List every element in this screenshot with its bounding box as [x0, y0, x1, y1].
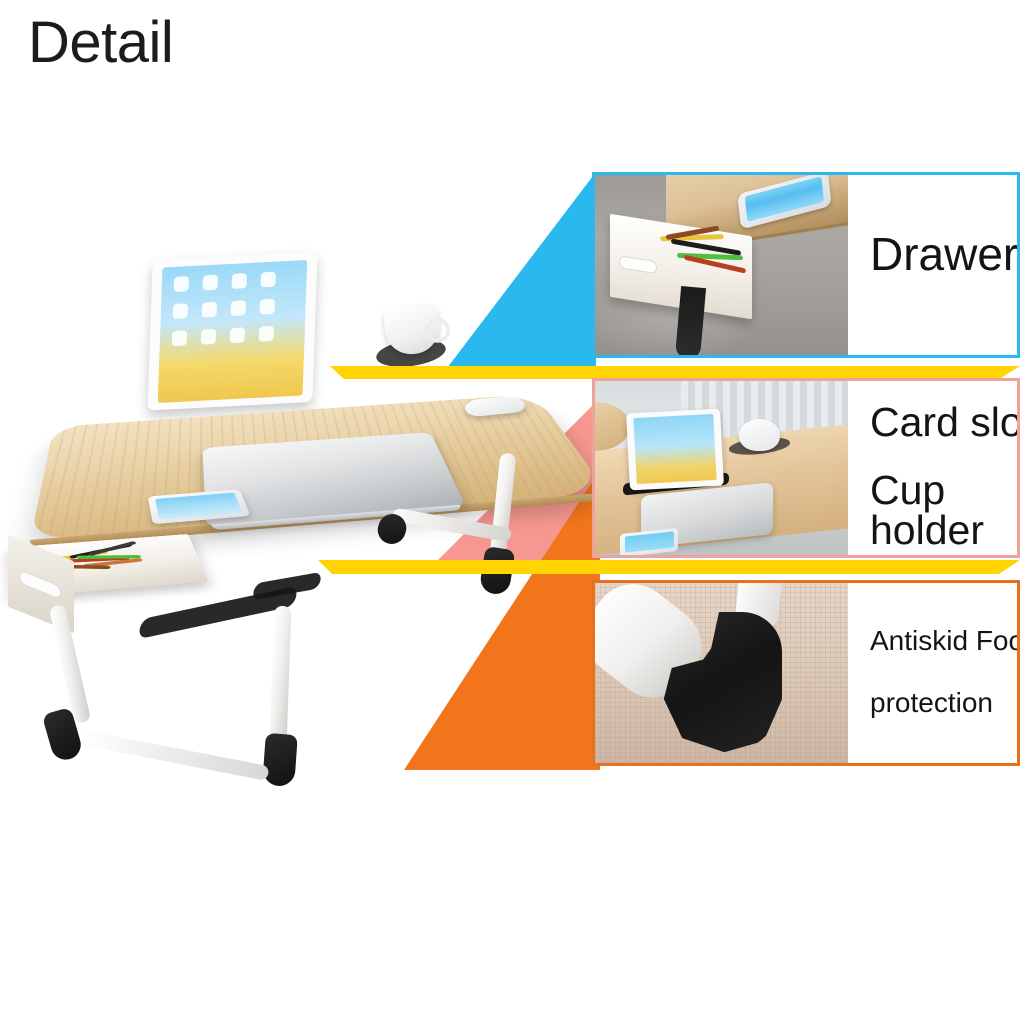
desk-leg-rail-left	[80, 730, 269, 781]
detail-panel-antiskid-foot: Antiskid Foot protection	[592, 580, 1020, 766]
main-product-photo	[10, 248, 620, 793]
caption-drawer: Drawer	[870, 227, 1018, 281]
caption-card-slot: Card slot	[870, 399, 1020, 446]
card-slot-caption-block: Card slot Cup holder	[848, 381, 1017, 555]
tablet-device	[147, 251, 317, 410]
detail-panel-drawer: Drawer	[592, 172, 1020, 358]
desk-leg-front	[270, 606, 292, 747]
antiskid-foot-front	[262, 733, 298, 787]
caption-protection: protection	[870, 687, 993, 719]
card-slot-detail-photo	[595, 381, 848, 555]
antiskid-caption-block: Antiskid Foot protection	[848, 583, 1017, 763]
caption-antiskid-foot: Antiskid Foot	[870, 625, 1020, 657]
detail-panel-card-slot-cup-holder: Card slot Cup holder	[592, 378, 1020, 558]
connector-bar-lower	[318, 560, 1020, 574]
page-title: Detail	[28, 14, 173, 72]
antiskid-foot-detail-photo	[595, 583, 848, 763]
drawer-caption-block: Drawer	[848, 175, 1017, 355]
tablet-screen	[158, 259, 308, 402]
drawer-detail-photo	[595, 175, 848, 355]
detail-page-canvas: Detail	[0, 0, 1024, 1024]
caption-holder: holder	[870, 507, 984, 554]
